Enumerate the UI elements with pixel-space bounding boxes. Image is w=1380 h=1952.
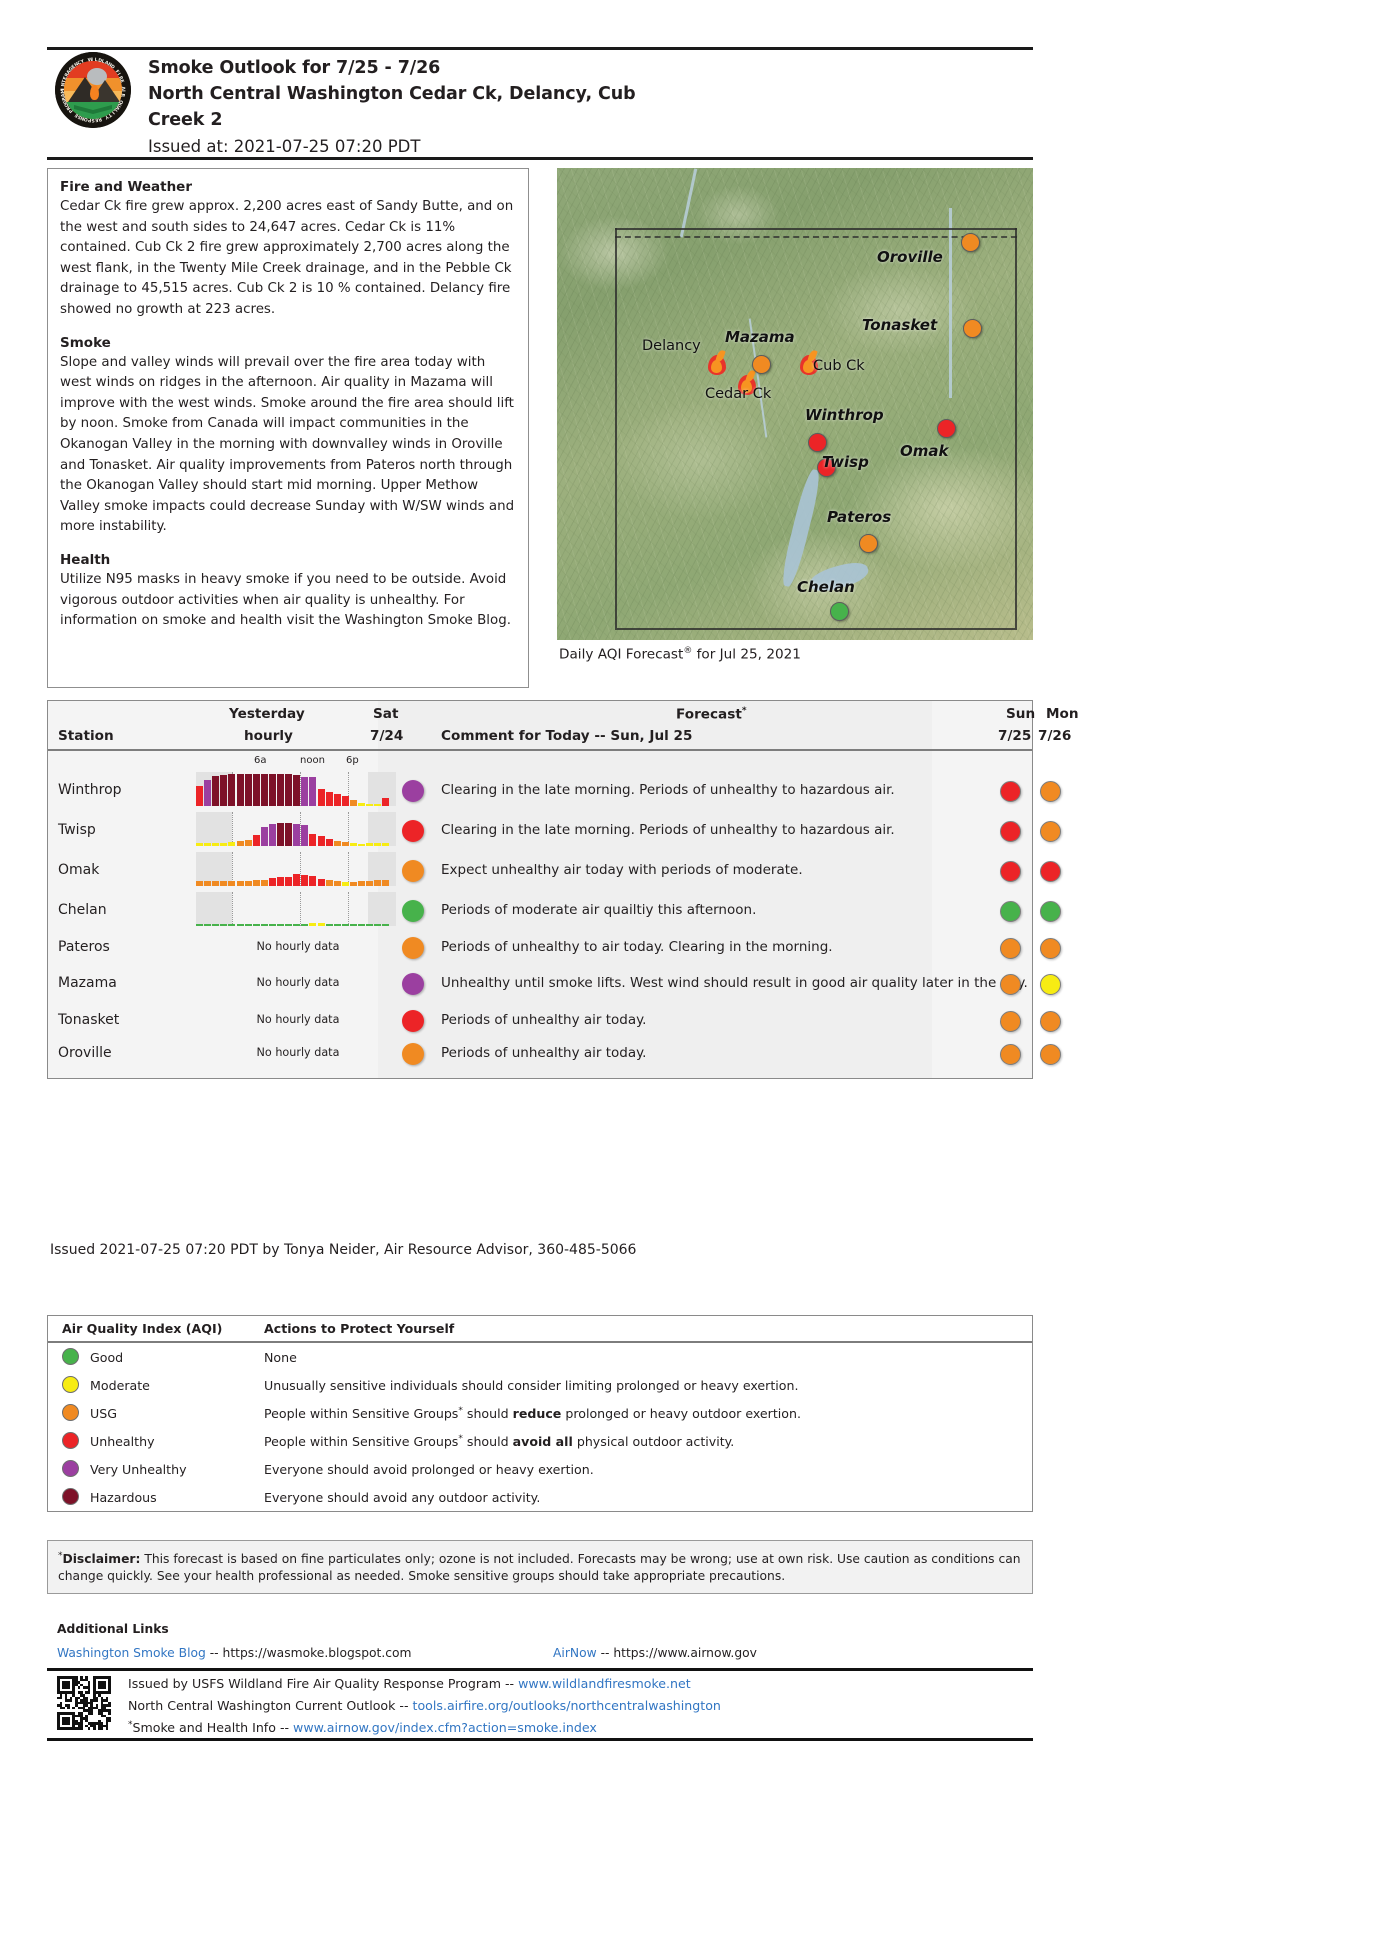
aqi-legend-row: ModerateUnusually sensitive individuals …: [48, 1371, 1032, 1399]
hourly-sparkline-twisp: [196, 812, 396, 846]
airnow-link[interactable]: AirNow: [553, 1646, 597, 1660]
aqi-col1-header: Air Quality Index (AQI): [62, 1321, 222, 1336]
aqi-legend-row: GoodNone: [48, 1343, 1032, 1371]
aqi-legend-table: Air Quality Index (AQI) Actions to Prote…: [47, 1315, 1033, 1512]
aqi-action-text: None: [264, 1350, 297, 1365]
sat-aqi-dot-omak[interactable]: [402, 860, 424, 882]
table-header: Yesterday Sat Forecast* Sun Mon Station …: [48, 701, 1032, 751]
mon-aqi-dot-omak[interactable]: [1040, 861, 1061, 882]
no-hourly-data-mazama: No hourly data: [208, 976, 388, 989]
hourly-sparkline-winthrop: [196, 772, 396, 806]
smoke-text: Slope and valley winds will prevail over…: [60, 353, 515, 538]
table-body: 6anoon6pWinthropClearing in the late mor…: [48, 751, 1032, 1078]
aqi-swatch-usg: [62, 1404, 79, 1421]
header-forecast: Forecast*: [676, 706, 747, 723]
map-aqi-dot-pateros[interactable]: [859, 534, 878, 553]
header-comment: Comment for Today -- Sun, Jul 25: [441, 728, 692, 744]
aqi-action-text: Everyone should avoid prolonged or heavy…: [264, 1462, 594, 1477]
forecast-comment-mazama: Unhealthy until smoke lifts. West wind s…: [441, 975, 1031, 993]
map-aqi-dot-chelan[interactable]: [830, 602, 849, 621]
footer-line-1[interactable]: Issued by USFS Wildland Fire Air Quality…: [128, 1676, 691, 1691]
wildlandfiresmoke-link[interactable]: www.wildlandfiresmoke.net: [518, 1676, 691, 1691]
sat-aqi-dot-mazama[interactable]: [402, 973, 424, 995]
logo-ring-text: INTERAGENCY WILDLAND FIRE AIR QUALITY RE…: [55, 52, 131, 128]
airnow-link-row[interactable]: AirNow -- https://www.airnow.gov: [553, 1646, 757, 1660]
sun-aqi-dot-pateros[interactable]: [1000, 938, 1021, 959]
sun-aqi-dot-tonasket[interactable]: [1000, 1011, 1021, 1032]
sat-aqi-dot-tonasket[interactable]: [402, 1010, 424, 1032]
map-caption-text: Daily AQI Forecast: [559, 647, 683, 663]
disclaimer-box: *Disclaimer: This forecast is based on f…: [47, 1540, 1033, 1594]
station-name-twisp: Twisp: [58, 822, 96, 838]
mon-aqi-dot-mazama[interactable]: [1040, 974, 1061, 995]
hourly-sparkline-omak: [196, 852, 396, 886]
mon-aqi-dot-winthrop[interactable]: [1040, 781, 1061, 802]
aqi-action-text: People within Sensitive Groups* should r…: [264, 1406, 801, 1421]
no-hourly-data-tonasket: No hourly data: [208, 1013, 388, 1026]
airnow-url: -- https://www.airnow.gov: [597, 1646, 757, 1660]
health-text: Utilize N95 masks in heavy smoke if you …: [60, 570, 515, 632]
station-name-winthrop: Winthrop: [58, 782, 122, 798]
map-caption: Daily AQI Forecast® for Jul 25, 2021: [559, 646, 801, 663]
mon-aqi-dot-twisp[interactable]: [1040, 821, 1061, 842]
header-sun-date: 7/25: [998, 728, 1031, 744]
fire-icon-delancy: [707, 350, 727, 375]
additional-links-heading: Additional Links: [57, 1622, 169, 1636]
page-title: Smoke Outlook for 7/25 - 7/26 North Cent…: [148, 55, 748, 160]
current-outlook-link[interactable]: tools.airfire.org/outlooks/northcentralw…: [413, 1698, 721, 1713]
forecast-comment-winthrop: Clearing in the late morning. Periods of…: [441, 782, 1031, 800]
washington-smoke-blog-link-row[interactable]: Washington Smoke Blog -- https://wasmoke…: [57, 1646, 412, 1660]
smoke-outlook-document: INTERAGENCY WILDLAND FIRE AIR QUALITY RE…: [0, 0, 1380, 1952]
washington-smoke-blog-url: -- https://wasmoke.blogspot.com: [206, 1646, 412, 1660]
disclaimer-label: Disclaimer:: [63, 1552, 141, 1566]
sat-aqi-dot-oroville[interactable]: [402, 1043, 424, 1065]
header-rule-bottom: [47, 157, 1033, 160]
header-sat-date: 7/24: [370, 728, 403, 744]
map-caption-sup: ®: [683, 646, 692, 656]
no-hourly-data-pateros: No hourly data: [208, 940, 388, 953]
aqi-swatch-good: [62, 1348, 79, 1365]
no-hourly-data-oroville: No hourly data: [208, 1046, 388, 1059]
footer-line-2-text: North Central Washington Current Outlook…: [128, 1698, 413, 1713]
aqi-legend-row: Very UnhealthyEveryone should avoid prol…: [48, 1455, 1032, 1483]
header-station: Station: [58, 728, 114, 744]
map-aqi-dot-tonasket[interactable]: [963, 319, 982, 338]
aqi-legend-row: UnhealthyPeople within Sensitive Groups*…: [48, 1427, 1032, 1455]
sat-aqi-dot-twisp[interactable]: [402, 820, 424, 842]
sun-aqi-dot-oroville[interactable]: [1000, 1044, 1021, 1065]
station-name-omak: Omak: [58, 862, 99, 878]
aqi-swatch-very-unhealthy: [62, 1460, 79, 1477]
sparkline-axis-labels: 6anoon6p: [196, 755, 396, 769]
map-caption-rest: for Jul 25, 2021: [692, 647, 801, 663]
footer-rule-bottom: [47, 1738, 1033, 1741]
forecast-comment-tonasket: Periods of unhealthy air today.: [441, 1012, 1031, 1030]
health-heading: Health: [60, 552, 515, 568]
map-city-label-twisp: Twisp: [822, 453, 869, 471]
sat-aqi-dot-winthrop[interactable]: [402, 780, 424, 802]
mon-aqi-dot-pateros[interactable]: [1040, 938, 1061, 959]
station-name-tonasket: Tonasket: [58, 1012, 119, 1028]
washington-smoke-blog-link[interactable]: Washington Smoke Blog: [57, 1646, 206, 1660]
station-name-mazama: Mazama: [58, 975, 117, 991]
smoke-health-info-link[interactable]: www.airnow.gov/index.cfm?action=smoke.in…: [293, 1720, 597, 1735]
sat-aqi-dot-chelan[interactable]: [402, 900, 424, 922]
sun-aqi-dot-omak[interactable]: [1000, 861, 1021, 882]
aqi-legend-row: USGPeople within Sensitive Groups* shoul…: [48, 1399, 1032, 1427]
footer-line-1-text: Issued by USFS Wildland Fire Air Quality…: [128, 1676, 518, 1691]
sun-aqi-dot-chelan[interactable]: [1000, 901, 1021, 922]
aqi-legend-header: Air Quality Index (AQI) Actions to Prote…: [48, 1316, 1032, 1343]
map-aqi-dot-oroville[interactable]: [961, 233, 980, 252]
sat-aqi-dot-pateros[interactable]: [402, 937, 424, 959]
forecast-comment-chelan: Periods of moderate air quailtiy this af…: [441, 902, 1031, 920]
map-fire-label-cub-ck: Cub Ck: [813, 358, 865, 374]
station-name-chelan: Chelan: [58, 902, 107, 918]
sun-aqi-dot-mazama[interactable]: [1000, 974, 1021, 995]
header-rule-top: [47, 47, 1033, 50]
aqi-swatch-unhealthy: [62, 1432, 79, 1449]
aqi-legend-row: HazardousEveryone should avoid any outdo…: [48, 1483, 1032, 1511]
header-mon: Mon: [1046, 706, 1079, 722]
aqi-swatch-moderate: [62, 1376, 79, 1393]
aqi-action-text: People within Sensitive Groups* should a…: [264, 1434, 734, 1449]
map-city-label-mazama: Mazama: [725, 328, 795, 346]
map-city-label-pateros: Pateros: [827, 508, 891, 526]
header-mon-date: 7/26: [1038, 728, 1071, 744]
map-aqi-dot-winthrop[interactable]: [808, 433, 827, 452]
map-city-label-winthrop: Winthrop: [805, 406, 884, 424]
aqi-category-label: Very Unhealthy: [90, 1462, 187, 1477]
map-city-label-oroville: Oroville: [877, 248, 943, 266]
header-yesterday: Yesterday: [229, 706, 305, 722]
aqi-category-label: Hazardous: [90, 1490, 157, 1505]
footer-rule-top: [47, 1668, 1033, 1671]
header-sat: Sat: [373, 706, 398, 722]
footer-line-3[interactable]: *Smoke and Health Info -- www.airnow.gov…: [128, 1720, 597, 1735]
footer-line-3-text: Smoke and Health Info --: [133, 1720, 294, 1735]
map-fire-label-delancy: Delancy: [642, 338, 701, 354]
forecast-comment-omak: Expect unhealthy air today with periods …: [441, 862, 1031, 880]
sun-aqi-dot-winthrop[interactable]: [1000, 781, 1021, 802]
title-line-3: Creek 2: [148, 107, 748, 133]
map-city-label-tonasket: Tonasket: [862, 316, 937, 334]
station-name-oroville: Oroville: [58, 1045, 112, 1061]
forecast-comment-pateros: Periods of unhealthy to air today. Clear…: [441, 939, 1031, 957]
mon-aqi-dot-oroville[interactable]: [1040, 1044, 1061, 1065]
fire-and-weather-text: Cedar Ck fire grew approx. 2,200 acres e…: [60, 197, 515, 321]
map-fire-label-cedar-ck: Cedar Ck: [705, 386, 771, 402]
aqi-forecast-map[interactable]: DelancyCedar CkCub CkOrovilleTonasketMaz…: [557, 168, 1033, 640]
fire-and-weather-heading: Fire and Weather: [60, 179, 515, 195]
aqi-category-label: Unhealthy: [90, 1434, 155, 1449]
header-sun: Sun: [1006, 706, 1035, 722]
station-name-pateros: Pateros: [58, 939, 110, 955]
smoke-heading: Smoke: [60, 335, 515, 351]
station-forecast-table: Yesterday Sat Forecast* Sun Mon Station …: [47, 700, 1033, 1079]
map-city-label-omak: Omak: [900, 442, 948, 460]
footer-line-2[interactable]: North Central Washington Current Outlook…: [128, 1698, 721, 1713]
forecast-comment-twisp: Clearing in the late morning. Periods of…: [441, 822, 1031, 840]
aqi-category-label: USG: [90, 1406, 117, 1421]
title-line-1: Smoke Outlook for 7/25 - 7/26: [148, 55, 748, 81]
narrative-panel: Fire and Weather Cedar Ck fire grew appr…: [47, 168, 529, 688]
title-line-2: North Central Washington Cedar Ck, Delan…: [148, 81, 748, 107]
qr-code[interactable]: [57, 1676, 111, 1730]
aqi-swatch-hazardous: [62, 1488, 79, 1505]
disclaimer-text: This forecast is based on fine particula…: [58, 1552, 1021, 1583]
aqi-action-text: Everyone should avoid any outdoor activi…: [264, 1490, 540, 1505]
hourly-sparkline-chelan: [196, 892, 396, 926]
mon-aqi-dot-chelan[interactable]: [1040, 901, 1061, 922]
issued-by-line: Issued 2021-07-25 07:20 PDT by Tonya Nei…: [50, 1242, 636, 1258]
aqi-col2-header: Actions to Protect Yourself: [264, 1321, 454, 1336]
map-aqi-dot-mazama[interactable]: [752, 355, 771, 374]
forecast-comment-oroville: Periods of unhealthy air today.: [441, 1045, 1031, 1063]
header-hourly: hourly: [244, 728, 293, 744]
sun-aqi-dot-twisp[interactable]: [1000, 821, 1021, 842]
map-aqi-dot-omak[interactable]: [937, 419, 956, 438]
aqi-category-label: Moderate: [90, 1378, 150, 1393]
aqi-action-text: Unusually sensitive individuals should c…: [264, 1378, 798, 1393]
interagency-wildland-fire-logo: INTERAGENCY WILDLAND FIRE AIR QUALITY RE…: [55, 52, 131, 128]
mon-aqi-dot-tonasket[interactable]: [1040, 1011, 1061, 1032]
map-city-label-chelan: Chelan: [797, 578, 855, 596]
aqi-category-label: Good: [90, 1350, 123, 1365]
